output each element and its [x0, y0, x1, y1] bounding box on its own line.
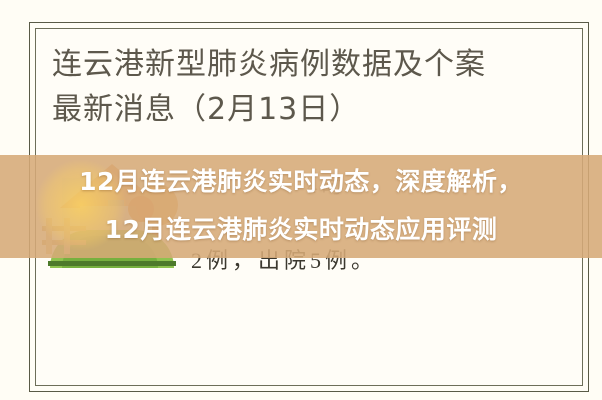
- screenshot-root: 连云港新型肺炎病例数据及个案 最新消息（2月13日） 4时 2例，出院5例。 1…: [0, 0, 602, 400]
- overlay-headline: 12月连云港肺炎实时动态，深度解析， 12月连云港肺炎实时动态应用评测: [0, 158, 602, 254]
- page-title: 连云港新型肺炎病例数据及个案 最新消息（2月13日）: [52, 42, 532, 132]
- ground-strip: [48, 261, 176, 266]
